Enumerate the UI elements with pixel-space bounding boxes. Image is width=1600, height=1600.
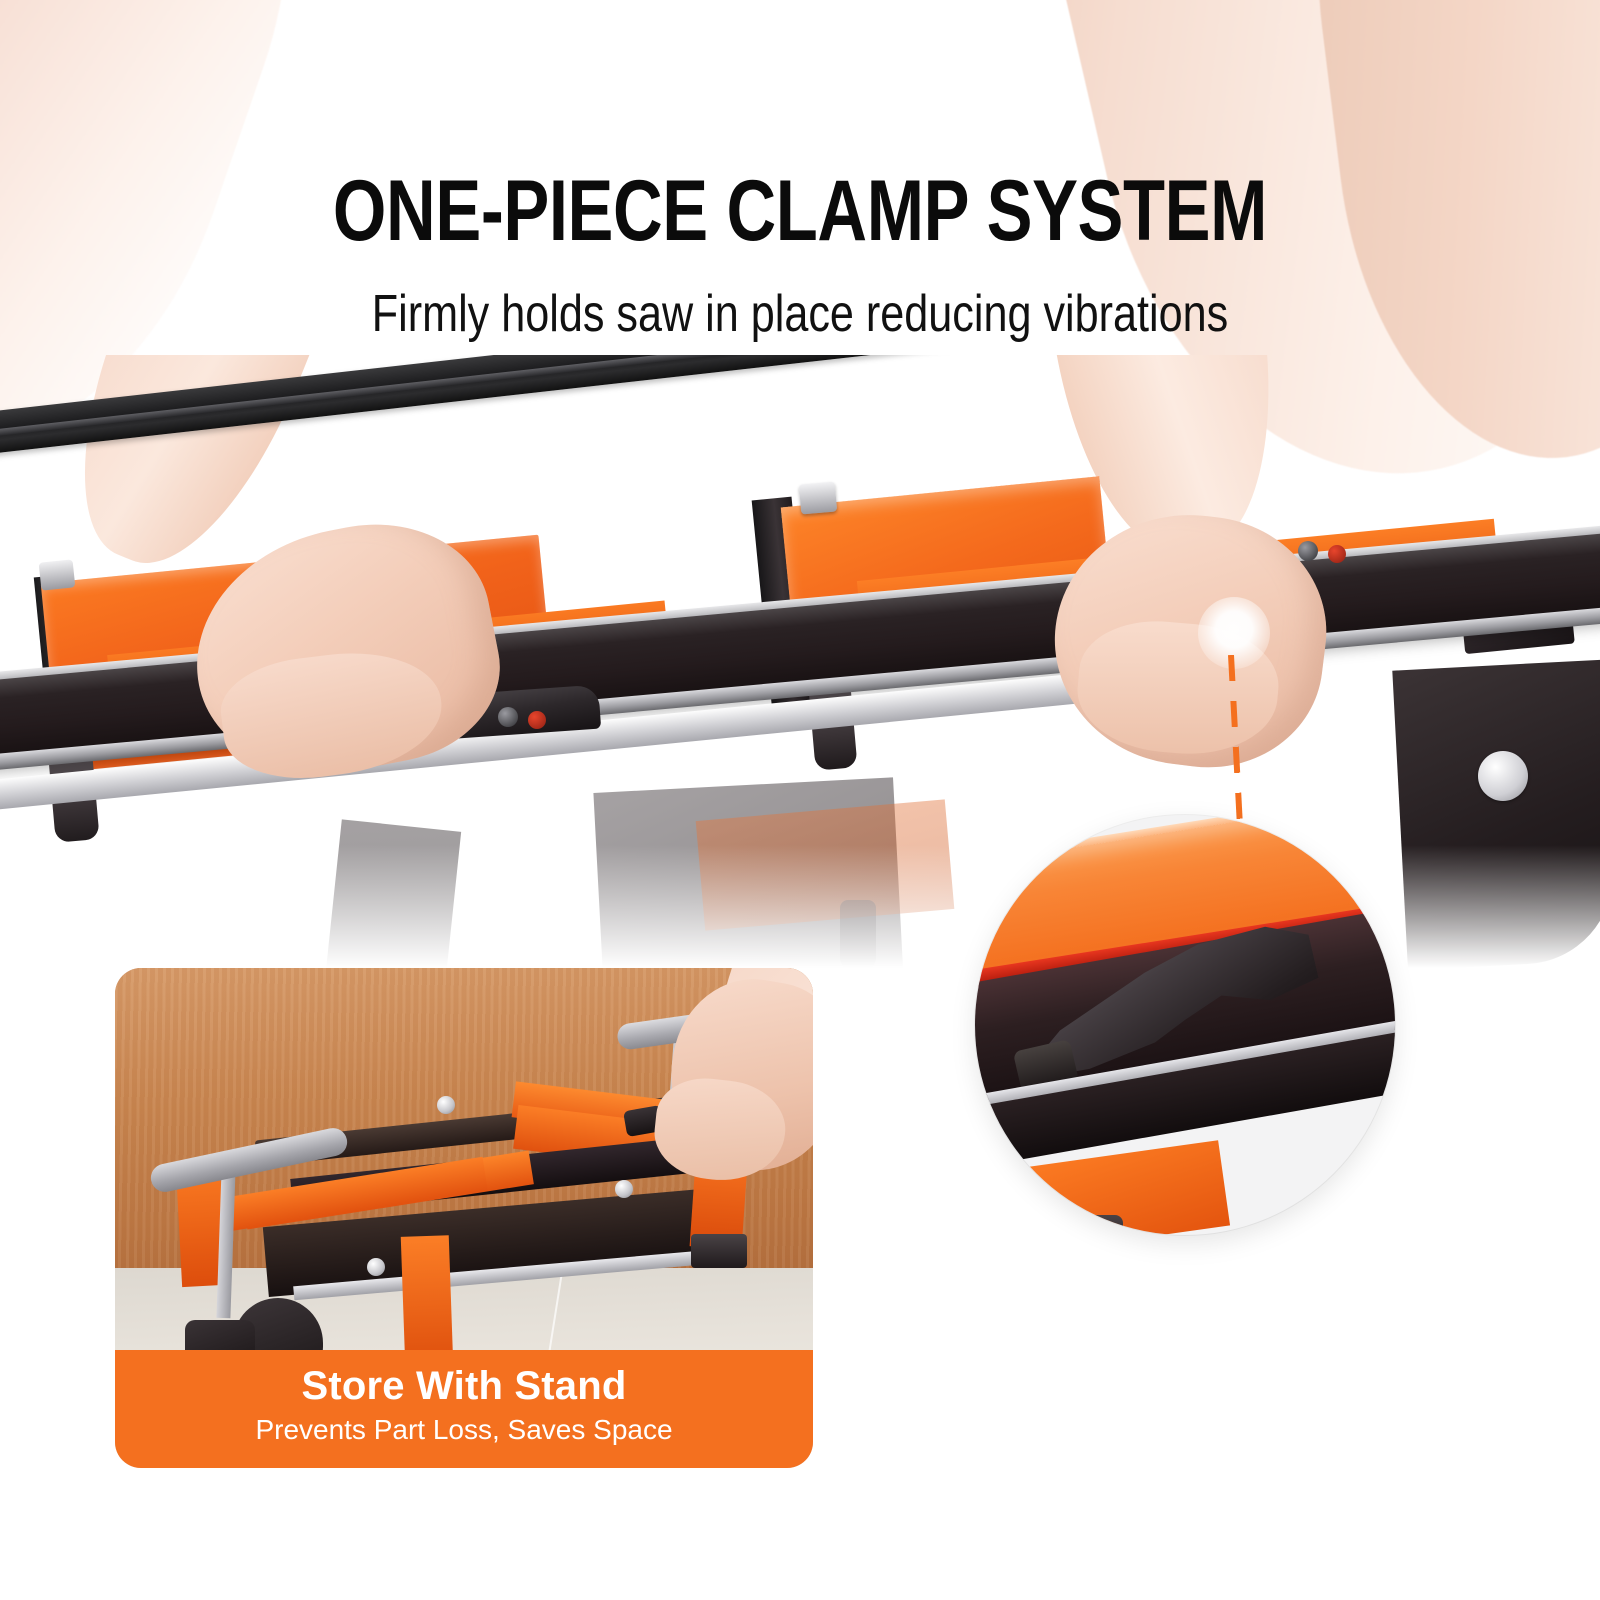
left-bolt-icon xyxy=(39,559,76,590)
bolt-icon xyxy=(437,1096,455,1114)
red-plug-icon xyxy=(1328,545,1346,563)
page-subtitle: Firmly holds saw in place reducing vibra… xyxy=(136,288,1464,340)
inset-caption-bar: Store With Stand Prevents Part Loss, Sav… xyxy=(115,1350,813,1468)
screw-icon xyxy=(498,707,518,727)
screw-icon xyxy=(1298,541,1318,561)
right-leg-pivot-disc xyxy=(1478,751,1528,801)
right-bolt-icon xyxy=(799,481,837,514)
inset-caption-subtitle: Prevents Part Loss, Saves Space xyxy=(255,1414,672,1446)
magnified-rubber-foot xyxy=(1083,1215,1123,1235)
magnified-lower-orange-clamp xyxy=(1030,1140,1230,1235)
magnifier-callout xyxy=(975,815,1395,1235)
red-plug-icon xyxy=(528,711,546,729)
product-feature-banner: ONE-PIECE CLAMP SYSTEM Firmly holds saw … xyxy=(0,0,1600,1600)
bolt-icon xyxy=(367,1258,385,1276)
folded-stand-right-foot xyxy=(691,1234,747,1268)
magnifier-content xyxy=(975,815,1395,1235)
inset-caption-title: Store With Stand xyxy=(301,1365,626,1407)
bolt-icon xyxy=(615,1180,633,1198)
folded-stand-front-leg xyxy=(401,1235,454,1367)
page-title: ONE-PIECE CLAMP SYSTEM xyxy=(160,168,1440,254)
